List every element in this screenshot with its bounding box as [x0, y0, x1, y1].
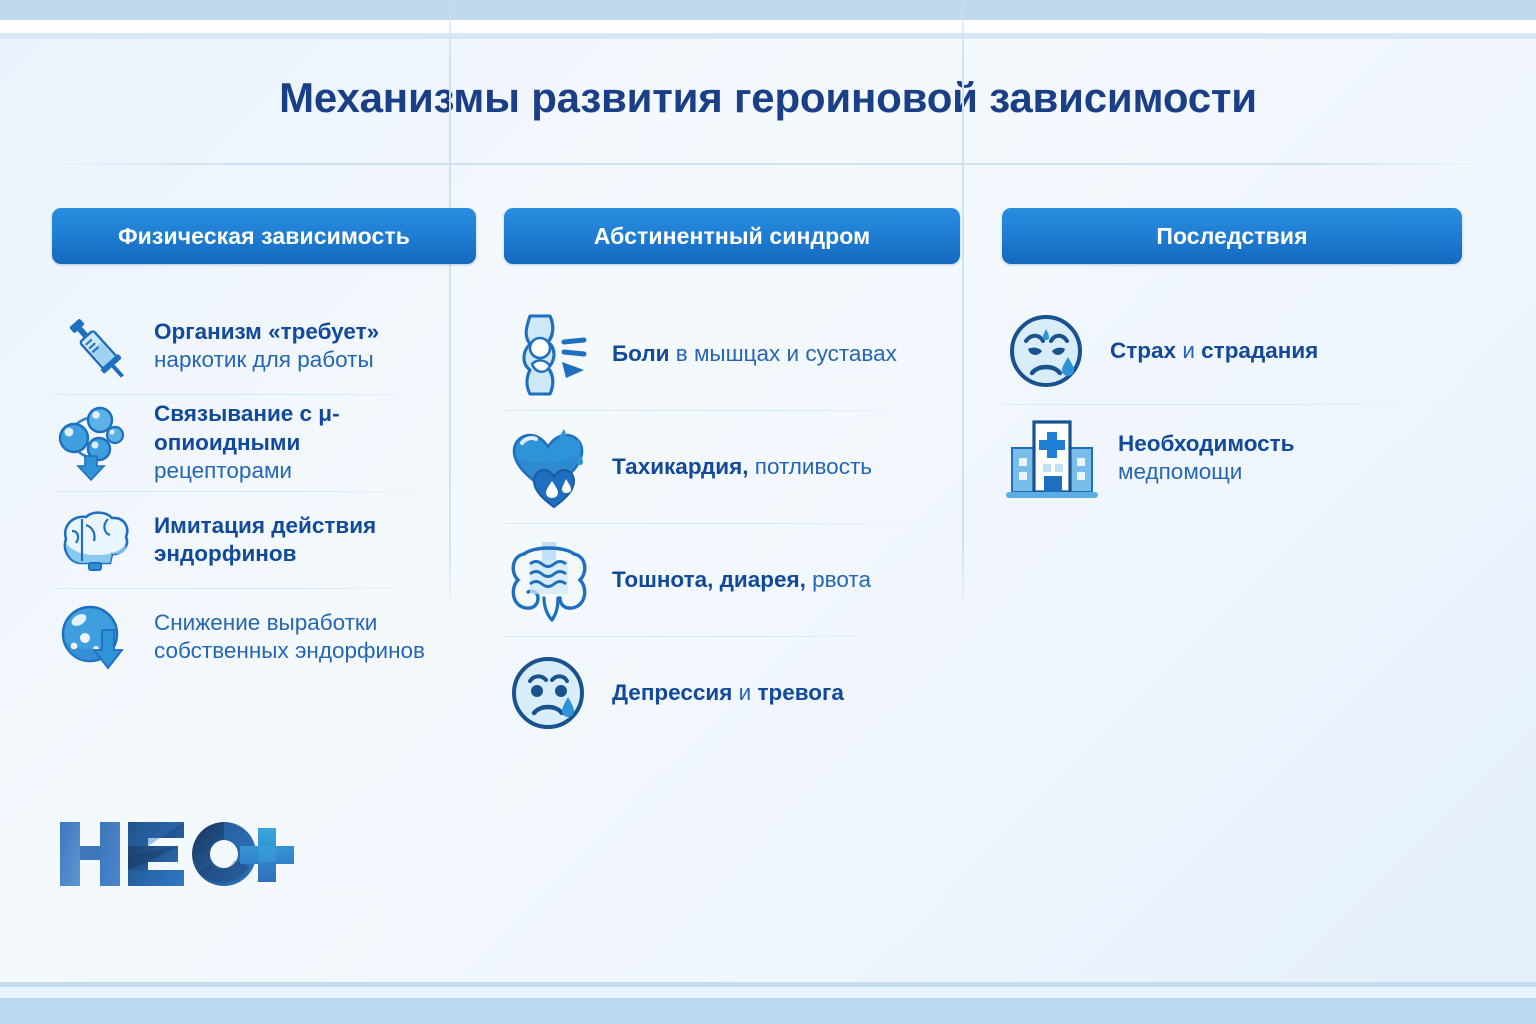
list-item: Организм «требует» наркотик для работы — [52, 298, 468, 394]
column-header-2: Абстинентный синдром — [504, 208, 960, 264]
list-item-bold: Страх — [1110, 338, 1176, 363]
syringe-icon — [52, 303, 138, 389]
joint-pain-icon — [504, 308, 596, 400]
list-item-text: Боли в мышцах и суставах — [612, 340, 897, 368]
column-header-2-label: Абстинентный синдром — [594, 223, 871, 250]
top-band-white — [0, 20, 1536, 33]
list-item-bold: Организм «требует» — [154, 319, 379, 344]
title-divider — [52, 163, 1484, 165]
brain-icon — [52, 497, 138, 583]
list-item: Депрессия и тревога — [504, 637, 966, 749]
bottom-band-light — [0, 987, 1536, 998]
list-item-rest: Снижение выработки собственных эндорфино… — [154, 610, 425, 663]
column-header-1: Физическая зависимость — [52, 208, 476, 264]
bottom-band-accent — [0, 998, 1536, 1024]
column-2-items: Боли в мышцах и суставах — [504, 298, 966, 749]
list-item: Тахикардия, потливость — [504, 411, 966, 523]
list-item: Тошнота, диарея, рвота — [504, 524, 966, 636]
column-header-1-label: Физическая зависимость — [118, 223, 410, 250]
list-item-rest: и — [1182, 338, 1195, 363]
column-header-3-label: Последствия — [1156, 223, 1307, 250]
column-physical-dependence: Физическая зависимость — [52, 208, 486, 818]
receptor-molecule-icon — [52, 400, 138, 486]
list-item-bold2: страдания — [1201, 338, 1318, 363]
sad-face-tear-icon — [504, 647, 596, 739]
list-item-text: Организм «требует» наркотик для работы — [154, 318, 379, 375]
list-item: Боли в мышцах и суставах — [504, 298, 966, 410]
list-item-bold: Боли — [612, 341, 669, 366]
list-item: Связывание с μ-опиоидными рецепторами — [52, 395, 468, 491]
list-item-bold: Необходимость — [1118, 431, 1295, 456]
list-item: Имитация действия эндорфинов — [52, 492, 468, 588]
list-item-rest: потливость — [755, 454, 872, 479]
list-item-rest: и — [739, 680, 752, 705]
list-item-text: Тошнота, диарея, рвота — [612, 566, 871, 594]
hospital-icon — [1002, 412, 1102, 504]
list-item-text: Снижение выработки собственных эндорфино… — [154, 609, 468, 666]
list-item-text: Депрессия и тревога — [612, 679, 844, 707]
top-band-accent — [0, 0, 1536, 20]
list-item-bold: Тошнота, диарея, — [612, 567, 806, 592]
columns-container: Физическая зависимость — [52, 208, 1484, 818]
list-item-text: Имитация действия эндорфинов — [154, 512, 468, 569]
list-item-text: Страх и страдания — [1110, 337, 1318, 365]
endorphin-decrease-icon — [52, 594, 138, 680]
intestines-icon — [504, 534, 596, 626]
list-item-bold: Имитация действия эндорфинов — [154, 513, 376, 566]
list-item-rest: наркотик для работы — [154, 347, 374, 372]
heart-sweat-icon — [504, 421, 596, 513]
list-item-text: Необходимость медпомощи — [1118, 430, 1295, 487]
list-item: Снижение выработки собственных эндорфино… — [52, 589, 468, 685]
column-1-items: Организм «требует» наркотик для работы — [52, 298, 468, 685]
column-3-items: Страх и страдания — [1002, 298, 1484, 511]
column-header-3: Последствия — [1002, 208, 1462, 264]
list-item-bold: Тахикардия, — [612, 454, 749, 479]
list-item: Необходимость медпомощи — [1002, 405, 1484, 511]
column-withdrawal-syndrome: Абстинентный синдром — [486, 208, 984, 818]
list-item-rest: медпомощи — [1118, 459, 1242, 484]
infographic-canvas: Механизмы развития героиновой зависимост… — [0, 0, 1536, 1024]
worried-face-tear-icon — [1002, 305, 1094, 397]
list-item-rest: в мышцах и суставах — [676, 341, 897, 366]
column-consequences: Последствия — [984, 208, 1484, 818]
list-item: Страх и страдания — [1002, 298, 1484, 404]
list-item-bold2: тревога — [757, 680, 843, 705]
brand-logo — [58, 816, 298, 892]
list-item-text: Тахикардия, потливость — [612, 453, 872, 481]
list-item-bold: Связывание с μ-опиоидными — [154, 401, 340, 454]
list-item-rest: рецепторами — [154, 458, 292, 483]
list-item-text: Связывание с μ-опиоидными рецепторами — [154, 400, 468, 485]
page-title: Механизмы развития героиновой зависимост… — [0, 74, 1536, 122]
list-item-rest: рвота — [812, 567, 871, 592]
top-band-line — [0, 33, 1536, 39]
list-item-bold: Депрессия — [612, 680, 732, 705]
